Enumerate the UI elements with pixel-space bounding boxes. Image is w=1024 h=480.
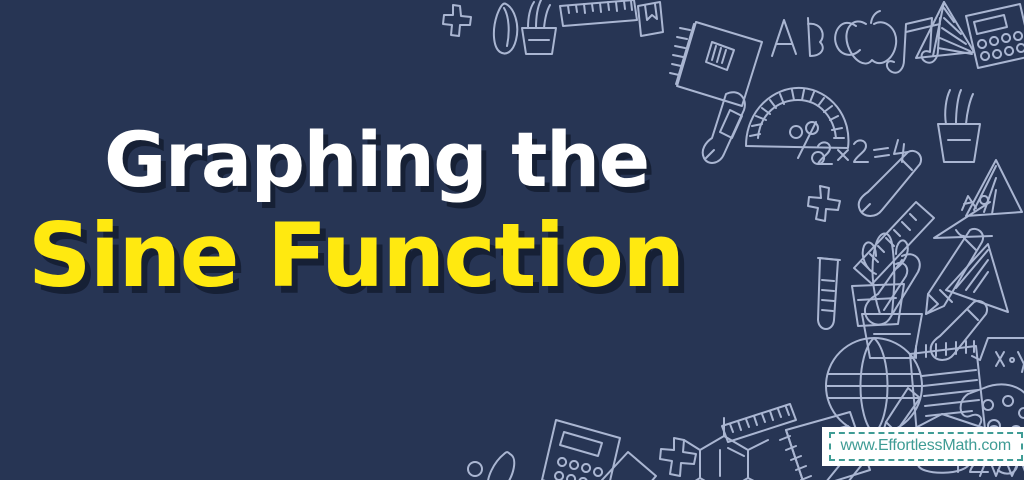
- ruler-icon-3: [722, 404, 796, 442]
- calculator-icon-2: [542, 420, 620, 480]
- apple-icon: [846, 11, 896, 64]
- sticky-note-icon: [602, 452, 656, 480]
- eraser-icon: [494, 4, 517, 54]
- marker-pen-icon: [859, 151, 921, 216]
- title-line-primary: Graphing the: [0, 122, 800, 198]
- pencil-cup-icon: [938, 90, 980, 162]
- abc-text-icon: [772, 18, 860, 56]
- book-icon: [638, 2, 663, 36]
- cactus-icon: [862, 234, 922, 359]
- page-title: Graphing the Sine Function: [0, 122, 800, 300]
- watermark-url-text: www.EffortlessMath.com: [841, 437, 1011, 455]
- watermark-border: www.EffortlessMath.com: [829, 432, 1023, 461]
- benzene-ring-icon: [684, 418, 768, 480]
- book-stack-icon: [852, 284, 904, 326]
- plus-sign-icon-3: [660, 438, 696, 476]
- plus-sign-icon-2: [808, 186, 840, 221]
- marker-pen-icon-2: [931, 301, 987, 360]
- title-line-secondary: Sine Function: [0, 212, 800, 300]
- plus-sign-icon: [443, 5, 471, 36]
- ruler-icon-2: [854, 202, 934, 284]
- eraser-icon-2: [488, 452, 515, 480]
- banner-container: Graphing the Sine Function www.Effortles…: [0, 0, 1024, 480]
- pencil-icon: [926, 229, 983, 314]
- triangle-ruler-icon: [946, 244, 1008, 312]
- notebook-icon: [670, 22, 762, 106]
- math-text-2x2-icon: [818, 140, 908, 164]
- angle-a-icon: [934, 196, 992, 238]
- small-circle-icon-3: [806, 122, 818, 134]
- calculator-icon: [966, 4, 1024, 68]
- watermark-badge[interactable]: www.EffortlessMath.com: [822, 427, 1024, 466]
- ruler-icon: [560, 0, 637, 26]
- test-tube-icon: [818, 258, 840, 329]
- music-note-icon: [887, 18, 940, 73]
- potted-plant-icon: [522, 0, 556, 54]
- paperclip-icon: [865, 254, 920, 324]
- sqrt-text-icon: [972, 338, 1024, 372]
- pyramid-icon: [916, 2, 974, 58]
- triangle-flag-icon: [966, 160, 1022, 216]
- small-circle-icon: [468, 462, 482, 476]
